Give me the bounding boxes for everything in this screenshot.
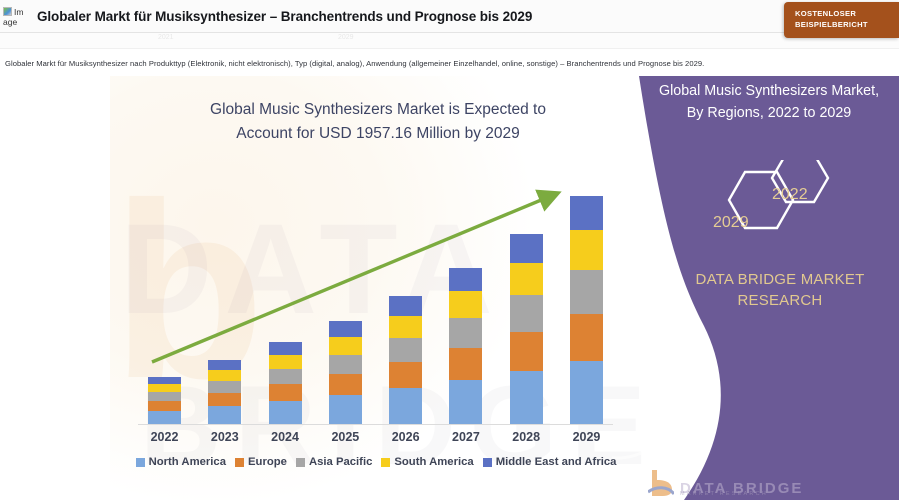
bar-segment (148, 401, 181, 411)
legend-label: North America (149, 456, 226, 468)
growth-arrow-icon (138, 180, 578, 375)
free-sample-report-button[interactable]: KOSTENLOSER BEISPIELBERICHT (784, 2, 899, 38)
legend-swatch (235, 458, 244, 467)
legend-item[interactable]: Middle East and Africa (483, 456, 617, 468)
ghost-year-left: 2021 (158, 34, 174, 41)
badge-line2: BEISPIELBERICHT (795, 19, 899, 30)
brand-name: DATA BRIDGE MARKET RESEARCH (665, 269, 895, 311)
hexagon-2029-label: 2029 (713, 214, 749, 232)
bar-segment (510, 371, 543, 425)
badge-line1: KOSTENLOSER (795, 8, 899, 19)
broken-image-placeholder: Im age (3, 7, 29, 27)
bar-segment (269, 384, 302, 401)
bar-segment (329, 374, 362, 395)
legend-label: Europe (248, 456, 287, 468)
legend-label: Middle East and Africa (496, 456, 617, 468)
bar-segment (148, 384, 181, 392)
legend-label: Asia Pacific (309, 456, 372, 468)
broken-image-icon (3, 7, 12, 16)
report-subtitle: Globaler Markt für Musiksynthesizer nach… (5, 59, 785, 68)
legend-swatch (381, 458, 390, 467)
page-header: Im age Globaler Markt für Musiksynthesiz… (0, 0, 899, 33)
legend-item[interactable]: Europe (235, 456, 287, 468)
screenshot-root: Im age Globaler Markt für Musiksynthesiz… (0, 0, 899, 500)
legend-item[interactable]: North America (136, 456, 226, 468)
chart-title: Global Music Synthesizers Market is Expe… (148, 98, 608, 146)
x-axis-label: 2024 (262, 430, 309, 444)
chart-title-line1: Global Music Synthesizers Market is Expe… (148, 98, 608, 122)
panel-title-line2: By Regions, 2022 to 2029 (644, 102, 894, 124)
bar-segment (148, 392, 181, 401)
legend-label: South America (394, 456, 473, 468)
bar-segment (389, 388, 422, 425)
bar-segment (148, 411, 181, 425)
legend-swatch (136, 458, 145, 467)
bar-segment (208, 406, 241, 425)
x-axis-label: 2029 (563, 430, 610, 444)
bar-segment (208, 381, 241, 393)
bar-segment (208, 393, 241, 406)
x-axis-label: 2025 (322, 430, 369, 444)
legend-swatch (296, 458, 305, 467)
data-bridge-logo-icon (648, 468, 674, 498)
bar-segment (329, 395, 362, 425)
panel-title: Global Music Synthesizers Market, By Reg… (644, 80, 894, 124)
page-title: Globaler Markt für Musiksynthesizer – Br… (37, 9, 532, 24)
bar-segment (269, 401, 302, 425)
chart-axis-line (138, 424, 613, 425)
panel-title-line1: Global Music Synthesizers Market, (644, 80, 894, 102)
ghost-year-right: 2029 (338, 34, 354, 41)
chart-legend: North AmericaEuropeAsia PacificSouth Ame… (136, 456, 616, 468)
x-axis-label: 2027 (442, 430, 489, 444)
x-axis-label: 2022 (141, 430, 188, 444)
legend-item[interactable]: Asia Pacific (296, 456, 372, 468)
chart-x-axis-labels: 20222023202420252026202720282029 (138, 430, 613, 444)
legend-swatch (483, 458, 492, 467)
bar-segment (148, 377, 181, 384)
x-axis-label: 2028 (503, 430, 550, 444)
broken-image-alt-line2: age (3, 17, 17, 27)
header-ghost-row: 2021 2029 (0, 33, 899, 49)
x-axis-label: 2023 (201, 430, 248, 444)
brand-line1: DATA BRIDGE MARKET (665, 269, 895, 290)
footer-logo-subtext: MARKET RESEARCH (680, 491, 768, 497)
brand-line2: RESEARCH (665, 290, 895, 311)
x-axis-label: 2026 (382, 430, 429, 444)
bar-segment (449, 380, 482, 425)
chart-title-line2: Account for USD 1957.16 Million by 2029 (148, 122, 608, 146)
panel-accent-arc (612, 306, 682, 486)
broken-image-alt-line1: Im (14, 7, 23, 17)
legend-item[interactable]: South America (381, 456, 473, 468)
hexagon-2022-label: 2022 (772, 186, 808, 204)
